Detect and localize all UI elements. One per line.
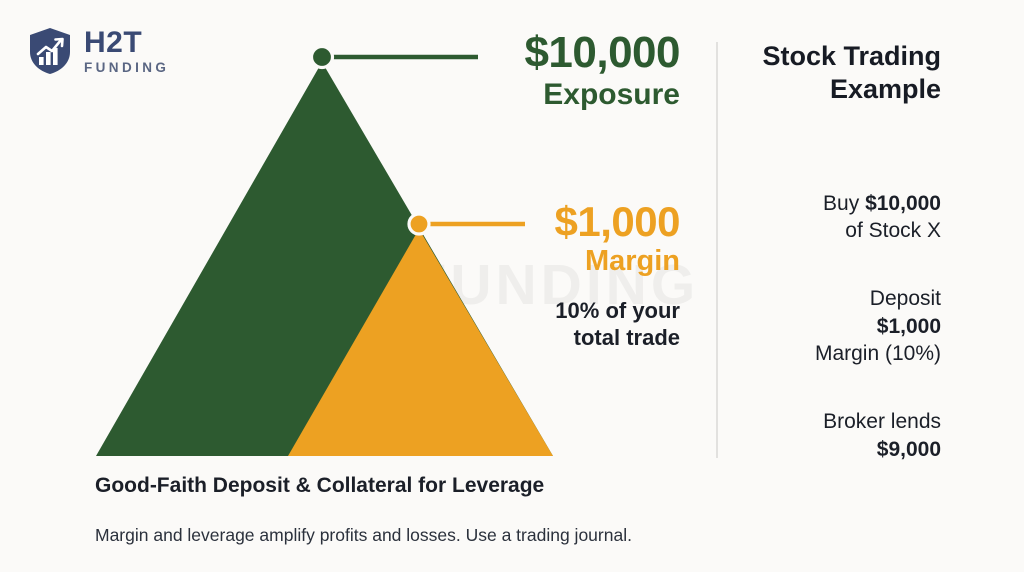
broker-line-1: Broker lends: [736, 408, 941, 435]
margin-note-line-1: 10% of your: [420, 298, 680, 325]
margin-label: Margin: [400, 246, 680, 276]
panel-title-line-1: Stock Trading: [736, 40, 941, 73]
deposit-line-1: Deposit: [736, 285, 941, 312]
panel-title-line-2: Example: [736, 73, 941, 106]
footnote-text: Margin and leverage amplify profits and …: [95, 525, 632, 546]
panel-title: Stock Trading Example: [736, 40, 941, 106]
panel-block-deposit: Deposit $1,000 Margin (10%): [736, 285, 941, 367]
logo-subtitle: FUNDING: [84, 61, 169, 75]
brand-logo: H2T FUNDING: [28, 27, 169, 75]
deposit-line-3: Margin (10%): [736, 340, 941, 367]
margin-percentage-note: 10% of your total trade: [420, 298, 680, 352]
buy-line-1: Buy $10,000: [736, 190, 941, 217]
exposure-label: Exposure: [380, 79, 680, 110]
base-caption: Good-Faith Deposit & Collateral for Leve…: [95, 474, 544, 498]
exposure-amount: $10,000: [380, 30, 680, 76]
panel-block-broker: Broker lends $9,000: [736, 408, 941, 463]
broker-amount-value: $9,000: [877, 438, 941, 461]
panel-block-buy: Buy $10,000 of Stock X: [736, 190, 941, 245]
exposure-node-dot: [312, 47, 333, 68]
callout-margin: $1,000 Margin: [400, 200, 680, 276]
shield-chart-arrow-icon: [28, 27, 72, 75]
logo-title: H2T: [84, 28, 169, 58]
margin-amount: $1,000: [400, 200, 680, 244]
buy-prefix: Buy: [823, 192, 865, 215]
deposit-amount: $1,000: [736, 313, 941, 340]
buy-line-2: of Stock X: [736, 217, 941, 244]
infographic-canvas: H2T FUNDING H2T FUNDING: [0, 0, 1024, 572]
deposit-amount-value: $1,000: [877, 315, 941, 338]
buy-amount: $10,000: [865, 192, 941, 215]
stock-trading-example-panel: Stock Trading Example Buy $10,000 of Sto…: [736, 40, 941, 463]
margin-note-line-2: total trade: [420, 325, 680, 352]
callout-exposure: $10,000 Exposure: [380, 30, 680, 110]
broker-amount: $9,000: [736, 436, 941, 463]
vertical-divider: [716, 42, 718, 458]
